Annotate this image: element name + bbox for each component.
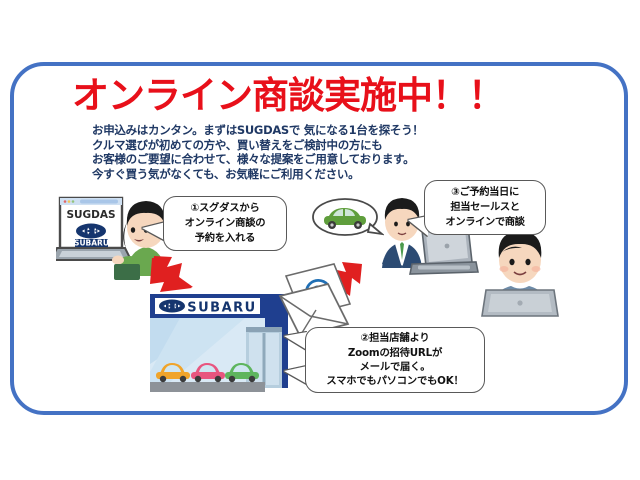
illustration-subaru-dealership: SUBARU: [150, 294, 288, 399]
laptop-screen-service-name: SUGDAS: [66, 209, 115, 221]
laptop-screen-brand-name: SUBARU: [74, 239, 109, 248]
lead-line-4: 今すぐ買う気がなくても、お気軽にご利用ください。: [92, 167, 492, 182]
bubble-2-line-3: メールで届く。: [306, 360, 484, 374]
callout-bubble-step-3[interactable]: ③ご予約当日に 担当セールスと オンラインで商談: [424, 180, 546, 235]
bubble-3-line-3: オンラインで商談: [425, 215, 545, 230]
lead-line-3: お客様のご要望に合わせて、様々な提案をご用意しております。: [92, 152, 492, 167]
callout-bubble-step-1[interactable]: ①スグダスから オンライン商談の 予約を入れる: [163, 196, 287, 251]
page-title: オンライン商談実施中！！: [72, 74, 492, 118]
bubble-2-tail-upper: [284, 332, 307, 350]
bubble-3-line-1: ③ご予約当日に: [425, 185, 545, 200]
lead-line-1: お申込みはカンタン。まずはSUGDASで 気になる1台を探そう！: [92, 123, 492, 138]
bubble-3-line-2: 担当セールスと: [425, 200, 545, 215]
poster-canvas: オンライン商談実施中！！ お申込みはカンタン。まずはSUGDASで 気になる1台…: [0, 0, 640, 480]
bubble-2-line-2: Zoomの招待URLが: [306, 346, 484, 360]
bubble-2-tail-lower: [284, 366, 307, 384]
lead-line-2: クルマ選びが初めての方や、買い替えをご検討中の方にも: [92, 138, 492, 153]
bubble-2-line-1: ②担当店舗より: [306, 331, 484, 345]
bubble-2-line-4: スマホでもパソコンでもOK！: [306, 374, 484, 388]
store-sign-brand-name: SUBARU: [187, 301, 256, 316]
callout-bubble-step-2[interactable]: ②担当店舗より Zoomの招待URLが メールで届く。 スマホでもパソコンでもO…: [305, 327, 485, 393]
bubble-1-line-1: ①スグダスから: [164, 201, 286, 216]
bubble-1-line-3: 予約を入れる: [164, 231, 286, 246]
lead-paragraph: お申込みはカンタン。まずはSUGDASで 気になる1台を探そう！ クルマ選びが初…: [92, 123, 492, 181]
illustration-customer-two-at-laptop: [478, 228, 562, 325]
bubble-1-line-2: オンライン商談の: [164, 216, 286, 231]
